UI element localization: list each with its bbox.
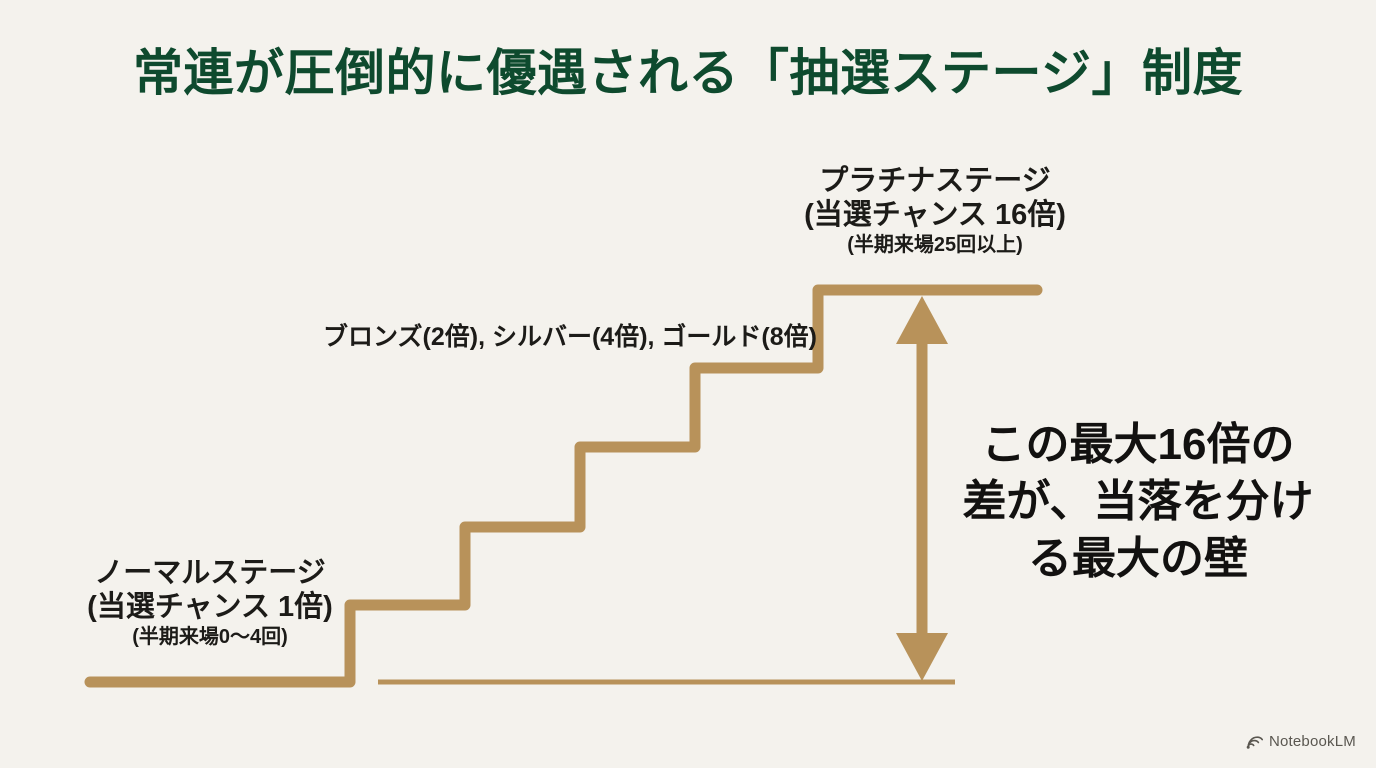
infographic-canvas: 常連が圧倒的に優遇される「抽選ステージ」制度 プラチナステージ (当選チャンス … [0, 0, 1376, 768]
normal-stage-multiplier: (当選チャンス 1倍) [30, 590, 390, 624]
notebooklm-watermark-label: NotebookLM [1269, 733, 1356, 750]
middle-tiers-caption: ブロンズ(2倍), シルバー(4倍), ゴールド(8倍) [300, 317, 840, 353]
notebooklm-watermark: NotebookLM [1246, 733, 1356, 750]
platinum-stage-multiplier: (当選チャンス 16倍) [720, 198, 1150, 232]
normal-stage-label: ノーマルステージ (当選チャンス 1倍) (半期来場0〜4回) [30, 556, 390, 650]
staircase-diagram [0, 0, 1376, 768]
platinum-stage-label: プラチナステージ (当選チャンス 16倍) (半期来場25回以上) [720, 164, 1150, 258]
gap-annotation-line-3: る最大の壁 [938, 530, 1338, 587]
platinum-stage-name: プラチナステージ [720, 164, 1150, 198]
normal-stage-condition: (半期来場0〜4回) [30, 626, 390, 650]
notebooklm-spiral-icon [1246, 735, 1263, 749]
page-title: 常連が圧倒的に優遇される「抽選ステージ」制度 [0, 46, 1376, 101]
normal-stage-name: ノーマルステージ [30, 556, 390, 590]
gap-annotation-line-1: この最大16倍の [938, 416, 1338, 473]
gap-annotation-line-2: 差が、当落を分け [938, 473, 1338, 530]
gap-annotation: この最大16倍の 差が、当落を分け る最大の壁 [938, 416, 1338, 588]
platinum-stage-condition: (半期来場25回以上) [720, 234, 1150, 258]
